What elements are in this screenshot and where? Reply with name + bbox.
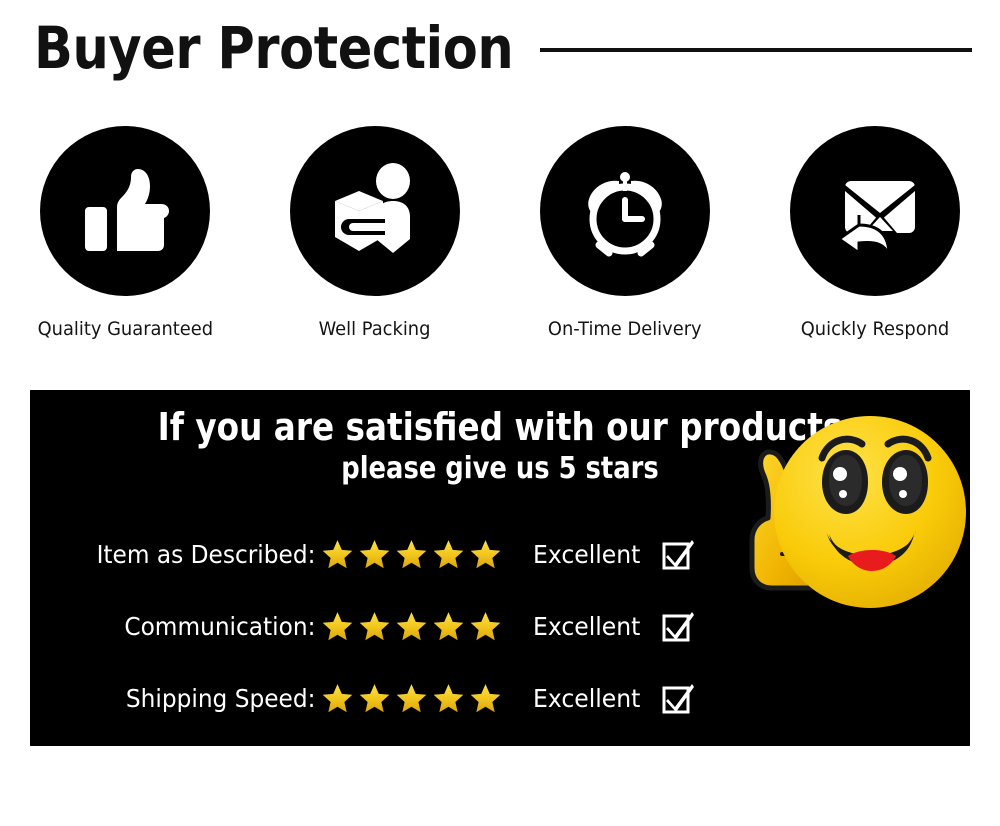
header: Buyer Protection xyxy=(0,0,1000,110)
star-icon xyxy=(469,538,502,571)
star-icon xyxy=(321,682,354,715)
person-with-box-icon xyxy=(323,159,427,263)
rating-checkbox[interactable] xyxy=(661,681,695,715)
envelope-reply-badge xyxy=(790,126,960,296)
thumbs-up-badge xyxy=(40,126,210,296)
feature-label: On-Time Delivery xyxy=(548,318,702,340)
star-icon xyxy=(395,682,428,715)
page-title: Buyer Protection xyxy=(34,12,513,84)
star-icon xyxy=(432,538,465,571)
feature-list: Quality Guaranteed Well Packing xyxy=(0,126,1000,366)
feature-label: Well Packing xyxy=(319,318,431,340)
feature-quality-guaranteed: Quality Guaranteed xyxy=(0,126,250,366)
smiley-thumbs-up-icon xyxy=(730,400,970,636)
rating-rows: Item as Described: Excellent Communicati… xyxy=(30,518,730,734)
rating-verdict: Excellent xyxy=(533,540,640,569)
rating-checkbox[interactable] xyxy=(661,609,695,643)
feature-label: Quickly Respond xyxy=(801,318,950,340)
feature-well-packing: Well Packing xyxy=(250,126,500,366)
header-rule xyxy=(540,48,972,52)
rating-checkbox[interactable] xyxy=(661,537,695,571)
rating-label: Communication: xyxy=(50,612,321,641)
star-rating xyxy=(321,610,509,643)
alarm-clock-badge xyxy=(540,126,710,296)
star-icon xyxy=(321,610,354,643)
person-with-box-badge xyxy=(290,126,460,296)
review-panel: If you are satisfied with our products p… xyxy=(30,390,970,746)
rating-verdict: Excellent xyxy=(533,684,640,713)
star-icon xyxy=(358,610,391,643)
thumbs-up-icon xyxy=(73,159,177,263)
alarm-clock-icon xyxy=(573,159,677,263)
star-icon xyxy=(358,682,391,715)
feature-on-time-delivery: On-Time Delivery xyxy=(500,126,750,366)
rating-row: Communication: Excellent xyxy=(30,590,730,662)
star-icon xyxy=(432,682,465,715)
rating-label: Item as Described: xyxy=(50,540,321,569)
star-icon xyxy=(469,610,502,643)
star-icon xyxy=(395,538,428,571)
star-icon xyxy=(432,610,465,643)
rating-row: Item as Described: Excellent xyxy=(30,518,730,590)
feature-quickly-respond: Quickly Respond xyxy=(750,126,1000,366)
rating-label: Shipping Speed: xyxy=(50,684,321,713)
star-rating xyxy=(321,538,509,571)
star-rating xyxy=(321,682,509,715)
star-icon xyxy=(358,538,391,571)
star-icon xyxy=(395,610,428,643)
star-icon xyxy=(469,682,502,715)
envelope-reply-icon xyxy=(823,159,927,263)
rating-row: Shipping Speed: Excellent xyxy=(30,662,730,734)
rating-verdict: Excellent xyxy=(533,612,640,641)
star-icon xyxy=(321,538,354,571)
feature-label: Quality Guaranteed xyxy=(37,318,213,340)
